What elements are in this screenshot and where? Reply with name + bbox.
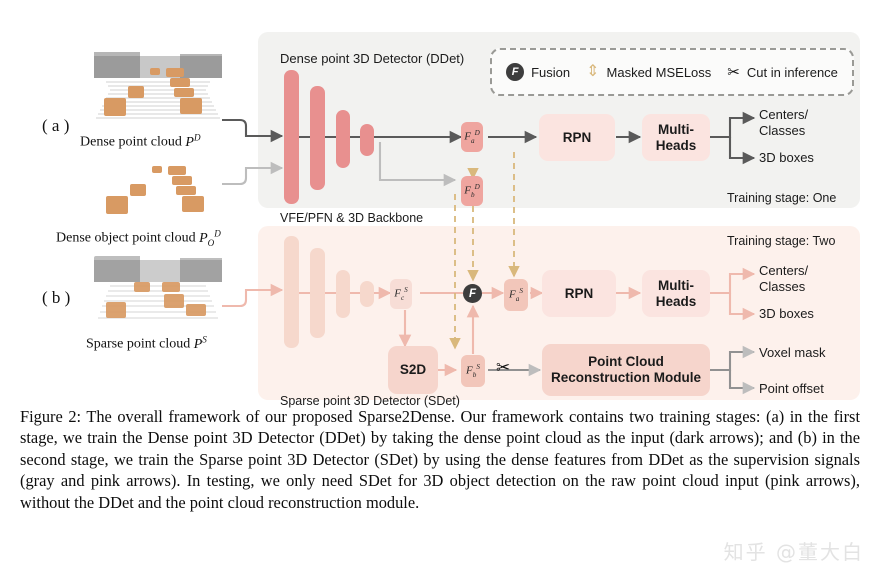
- dense-object-point-cloud-caption: Dense object point cloud POD: [56, 228, 221, 247]
- s2d-box: S2D: [388, 346, 438, 394]
- ddet-output-centers-classes: Centers/Classes: [759, 107, 808, 140]
- sparse-point-cloud-image: [94, 256, 222, 326]
- ddet-output-3d-boxes: 3D boxes: [759, 150, 814, 166]
- ddet-backbone-bar-2: [310, 86, 325, 190]
- dense-point-cloud-caption: Dense point cloud PD: [80, 132, 201, 151]
- legend: F Fusion ⇕ Masked MSELoss ✂ Cut in infer…: [490, 48, 854, 96]
- sdet-backbone-bar-3: [336, 270, 350, 318]
- fusion-icon: F: [506, 63, 524, 81]
- row-label-b: ( b ): [42, 288, 70, 308]
- dense-object-point-cloud-image: [94, 160, 222, 218]
- sdet-output-centers-classes: Centers/Classes: [759, 263, 808, 296]
- dense-point-cloud-image: [94, 50, 222, 122]
- figure-caption: Figure 2: The overall framework of our p…: [20, 406, 860, 513]
- ddet-training-stage: Training stage: One: [727, 191, 836, 205]
- cut-scissors-icon: ✂: [496, 358, 510, 378]
- sdet-backbone-bar-2: [310, 248, 325, 338]
- ddet-title: Dense point 3D Detector (DDet): [280, 51, 464, 66]
- ddet-backbone-label: VFE/PFN & 3D Backbone: [280, 211, 423, 225]
- feature-box-fb-dense: FbD: [461, 176, 483, 206]
- legend-item-mseloss: ⇕ Masked MSELoss: [586, 64, 711, 80]
- feature-box-fa-dense: FaD: [461, 122, 483, 152]
- sdet-output-voxel-mask: Voxel mask: [759, 345, 825, 361]
- ddet-multiheads-box: Multi- Heads: [642, 114, 710, 161]
- sparse-point-cloud-caption: Sparse point cloud PS: [86, 334, 207, 353]
- legend-item-fusion: F Fusion: [506, 63, 570, 81]
- feature-box-fc-sparse: FcS: [390, 279, 412, 309]
- sdet-rpn-box: RPN: [542, 270, 616, 317]
- row-label-a: ( a ): [42, 116, 69, 136]
- feature-box-fa-sparse: FaS: [504, 279, 528, 311]
- sdet-output-point-offset: Point offset: [759, 381, 824, 397]
- sdet-backbone-bar-4: [360, 281, 374, 307]
- ddet-rpn-box: RPN: [539, 114, 615, 161]
- fusion-node-icon: F: [463, 284, 482, 303]
- legend-item-cut: ✂ Cut in inference: [727, 65, 838, 80]
- legend-label-cut: Cut in inference: [747, 65, 838, 80]
- figure-screenshot: F Fusion ⇕ Masked MSELoss ✂ Cut in infer…: [0, 0, 878, 573]
- legend-label-mseloss: Masked MSELoss: [607, 65, 712, 80]
- masked-mse-arrow-icon: ⇕: [586, 64, 599, 80]
- watermark: 知乎 @董大白: [724, 536, 864, 565]
- ddet-backbone-bar-1: [284, 70, 299, 204]
- legend-label-fusion: Fusion: [531, 65, 570, 80]
- ddet-backbone-bar-3: [336, 110, 350, 168]
- point-cloud-reconstruction-module-box: Point Cloud Reconstruction Module: [542, 344, 710, 396]
- sdet-backbone-bar-1: [284, 236, 299, 348]
- sdet-output-3d-boxes: 3D boxes: [759, 306, 814, 322]
- sdet-multiheads-box: Multi- Heads: [642, 270, 710, 317]
- scissors-icon: ✂: [727, 65, 740, 80]
- feature-box-fb-sparse: FbS: [461, 355, 485, 387]
- ddet-backbone-bar-4: [360, 124, 374, 156]
- sdet-training-stage: Training stage: Two: [727, 234, 835, 248]
- figure-diagram: F Fusion ⇕ Masked MSELoss ✂ Cut in infer…: [18, 18, 860, 400]
